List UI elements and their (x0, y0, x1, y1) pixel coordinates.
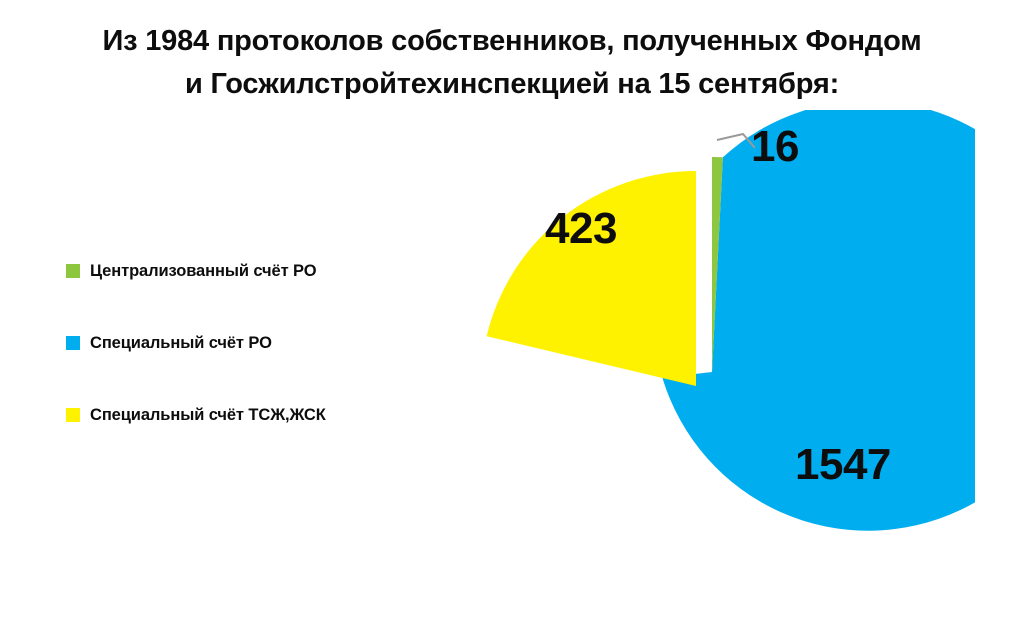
data-label-green: 16 (751, 122, 799, 172)
legend-item-centralizovannyy-schet-ro[interactable]: Централизованный счёт РО (66, 258, 426, 284)
pie-svg (455, 110, 975, 628)
data-label-blue: 1547 (795, 440, 891, 490)
legend-swatch-yellow (66, 408, 80, 422)
legend-label-centralizovannyy-schet-ro: Централизованный счёт РО (90, 262, 316, 281)
pie-slices (487, 110, 975, 531)
legend-swatch-blue (66, 336, 80, 350)
chart-title-line-2: и Госжилстройтехинспекцией на 15 сентябр… (0, 63, 1024, 106)
legend-item-specialnyy-schet-ro[interactable]: Специальный счёт РО (66, 330, 426, 356)
pie-chart-figure: Из 1984 протоколов собственников, получе… (0, 0, 1024, 628)
legend-label-specialnyy-schet-tszh-zhsk: Специальный счёт ТСЖ,ЖСК (90, 406, 326, 425)
data-label-yellow: 423 (545, 204, 617, 254)
legend-label-specialnyy-schet-ro: Специальный счёт РО (90, 334, 272, 353)
chart-title-line-1: Из 1984 протоколов собственников, получе… (0, 20, 1024, 63)
pie-plot-area (455, 110, 975, 628)
legend-swatch-green (66, 264, 80, 278)
chart-legend: Централизованный счёт РО Специальный счё… (66, 258, 426, 428)
legend-item-specialnyy-schet-tszh-zhsk[interactable]: Специальный счёт ТСЖ,ЖСК (66, 402, 426, 428)
chart-title: Из 1984 протоколов собственников, получе… (0, 20, 1024, 106)
